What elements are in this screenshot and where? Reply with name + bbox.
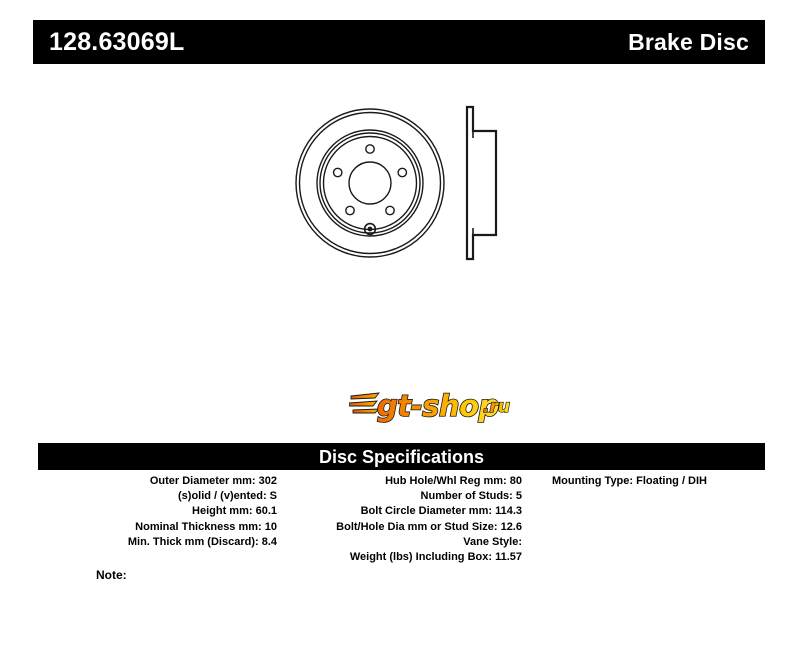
spec-column-right: Mounting Type: Floating / DIH (528, 474, 765, 489)
gt-shop-watermark: gt-shop .ru (349, 383, 525, 429)
disc-specifications-title: Disc Specifications (319, 448, 484, 466)
page-title: Brake Disc (628, 31, 749, 54)
technical-drawing-area: gt-shop .ru (33, 80, 765, 430)
watermark-wordmark: gt-shop (377, 389, 499, 423)
spec-line: Weight (lbs) Including Box: 11.57 (283, 550, 522, 565)
hub-bore-circle (349, 162, 391, 204)
spec-column-middle: Hub Hole/Whl Reg mm: 80 Number of Studs:… (283, 474, 528, 565)
bolt-hole (386, 206, 394, 214)
spec-line: Number of Studs: 5 (283, 489, 522, 504)
disc-profile-outline (467, 107, 496, 259)
spec-line: Bolt/Hole Dia mm or Stud Size: 12.6 (283, 520, 522, 535)
part-number: 128.63069L (49, 30, 184, 55)
disc-face-svg (292, 105, 448, 261)
disc-specifications-table: Outer Diameter mm: 302 (s)olid / (v)ente… (38, 474, 765, 565)
speed-streaks-icon (349, 393, 379, 413)
spec-line: Outer Diameter mm: 302 (38, 474, 277, 489)
watermark-tld: .ru (483, 397, 510, 417)
disc-profile-svg (460, 105, 506, 261)
brake-disc-cross-section-view (460, 105, 506, 266)
spec-line: Height mm: 60.1 (38, 504, 277, 519)
bolt-hole (366, 145, 374, 153)
spec-column-left: Outer Diameter mm: 302 (s)olid / (v)ente… (38, 474, 283, 550)
spec-line: Mounting Type: Floating / DIH (552, 474, 765, 489)
bolt-hole (346, 206, 354, 214)
spec-line: Min. Thick mm (Discard): 8.4 (38, 535, 277, 550)
watermark-logo-svg: gt-shop .ru (349, 383, 525, 429)
disc-braking-band-inner-circle (320, 133, 420, 233)
spec-line: Vane Style: (283, 535, 522, 550)
bolt-hole (398, 168, 406, 176)
spec-line: Bolt Circle Diameter mm: 114.3 (283, 504, 522, 519)
disc-hat-transition-circle (324, 137, 417, 230)
header-bar: 128.63069L Brake Disc (33, 20, 765, 64)
spec-line: Nominal Thickness mm: 10 (38, 520, 277, 535)
spec-line: Hub Hole/Whl Reg mm: 80 (283, 474, 522, 489)
disc-braking-band-outer-circle (317, 130, 423, 236)
disc-specifications-bar: Disc Specifications (38, 443, 765, 470)
brake-disc-face-view (292, 105, 448, 266)
note-label: Note: (96, 569, 127, 581)
spec-line: (s)olid / (v)ented: S (38, 489, 277, 504)
bolt-hole (334, 168, 342, 176)
